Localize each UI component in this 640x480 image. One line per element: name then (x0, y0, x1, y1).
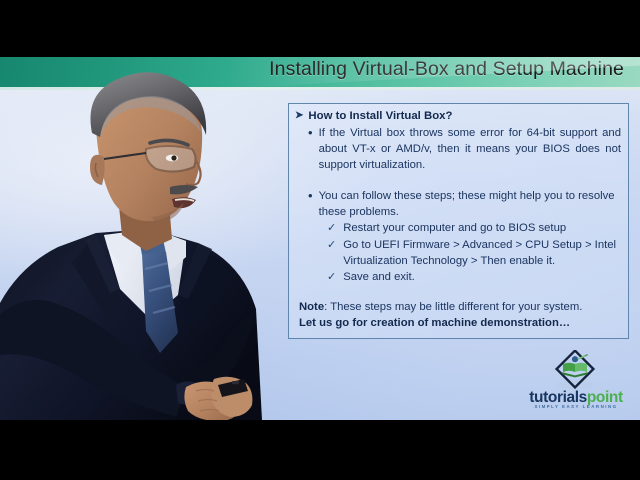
list-item: • You can follow these steps; these migh… (308, 188, 621, 220)
list-item-label: Save and exit. (343, 270, 621, 286)
list-item: • If the Virtual box throws some error f… (308, 125, 621, 173)
note-label: Note (299, 301, 324, 313)
dot-bullet-icon: • (308, 188, 313, 203)
arrow-bullet-icon: ➤ (295, 109, 303, 123)
slide-content-box: ➤ How to Install Virtual Box? • If the V… (288, 103, 629, 339)
letterbox-bar-top (0, 0, 640, 57)
list-item: ✓ Restart your computer and go to BIOS s… (327, 221, 621, 237)
page-title: Installing Virtual-Box and Setup Machine (269, 58, 624, 81)
note-body: These steps may be little different for … (330, 301, 582, 313)
check-bullet-icon: ✓ (327, 270, 336, 284)
note-text: Note: These steps may be little differen… (299, 299, 621, 315)
note-closing-text: Let us go for creation of machine demons… (299, 315, 621, 331)
video-frame: Installing Virtual-Box and Setup Machine… (0, 57, 640, 420)
spacer (295, 286, 621, 299)
logo-tagline: SIMPLY EASY LEARNING (520, 404, 632, 409)
spacer (295, 173, 621, 186)
list-item-label: If the Virtual box throws some error for… (319, 125, 621, 173)
check-bullet-icon: ✓ (327, 238, 336, 252)
list-item: ✓ Go to UEFI Firmware > Advanced > CPU S… (327, 238, 621, 269)
list-item: ✓ Save and exit. (327, 270, 621, 286)
dot-bullet-icon: • (308, 125, 313, 140)
presenter-figure (0, 57, 300, 420)
video-player-screen: Installing Virtual-Box and Setup Machine… (0, 0, 640, 480)
list-item-label: Go to UEFI Firmware > Advanced > CPU Set… (343, 238, 621, 269)
slide-heading-label: How to Install Virtual Box? (308, 109, 452, 123)
check-bullet-icon: ✓ (327, 221, 336, 235)
tutorialspoint-diamond-book-logo-icon (550, 350, 600, 392)
list-item-label: Restart your computer and go to BIOS set… (343, 221, 621, 237)
letterbox-bar-bottom (0, 420, 640, 480)
slide-heading: ➤ How to Install Virtual Box? (295, 109, 621, 123)
tutorialspoint-logo: tutorialspoint SIMPLY EASY LEARNING (520, 350, 632, 410)
list-item-label: You can follow these steps; these might … (319, 188, 621, 220)
